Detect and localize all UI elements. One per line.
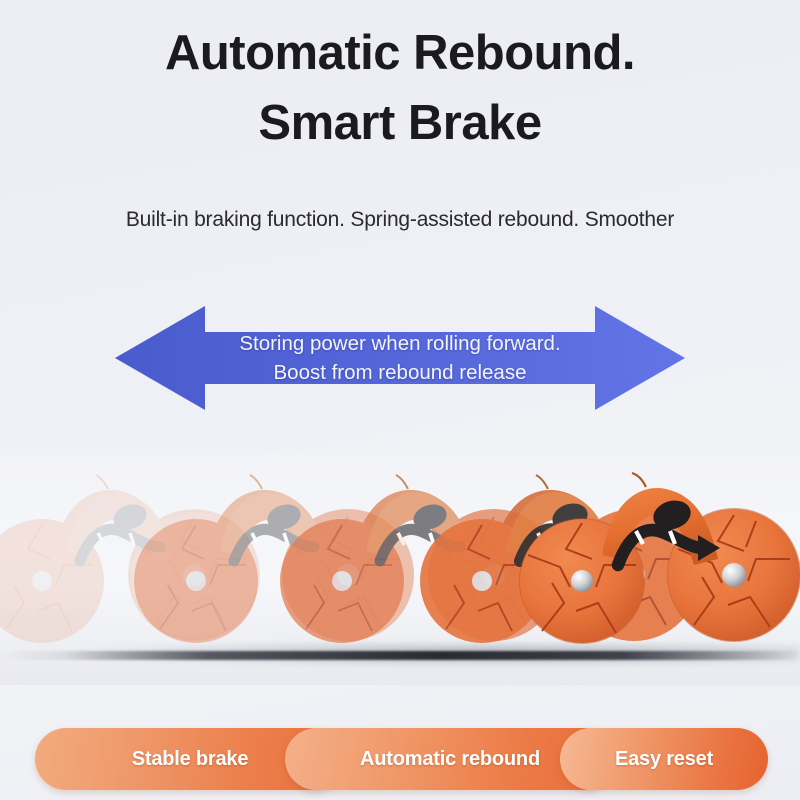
subheadline: Built-in braking function. Spring-assist… <box>0 208 800 232</box>
arrow-text-line-1: Storing power when rolling forward. <box>239 329 560 358</box>
page-title: Automatic Rebound. Smart Brake <box>0 24 800 152</box>
arrow-banner-text: Storing power when rolling forward. Boos… <box>0 296 800 420</box>
product-feature-banner: Automatic Rebound. Smart Brake Built-in … <box>0 0 800 800</box>
feature-pill-label: Automatic rebound <box>350 748 550 771</box>
feature-pill-label: Easy reset <box>605 748 723 771</box>
feature-pill-easy-reset[interactable]: Easy reset <box>560 728 768 790</box>
feature-pill-bar: Stable brake Automatic rebound Easy rese… <box>0 728 800 792</box>
headline-line-2: Smart Brake <box>0 94 800 152</box>
feature-pill-label: Stable brake <box>122 748 259 771</box>
headline-line-1: Automatic Rebound. <box>0 24 800 82</box>
roller-frame-5 <box>498 455 800 670</box>
product-image <box>0 455 800 685</box>
floor-line <box>0 651 800 660</box>
arrow-text-line-2: Boost from rebound release <box>274 358 527 387</box>
